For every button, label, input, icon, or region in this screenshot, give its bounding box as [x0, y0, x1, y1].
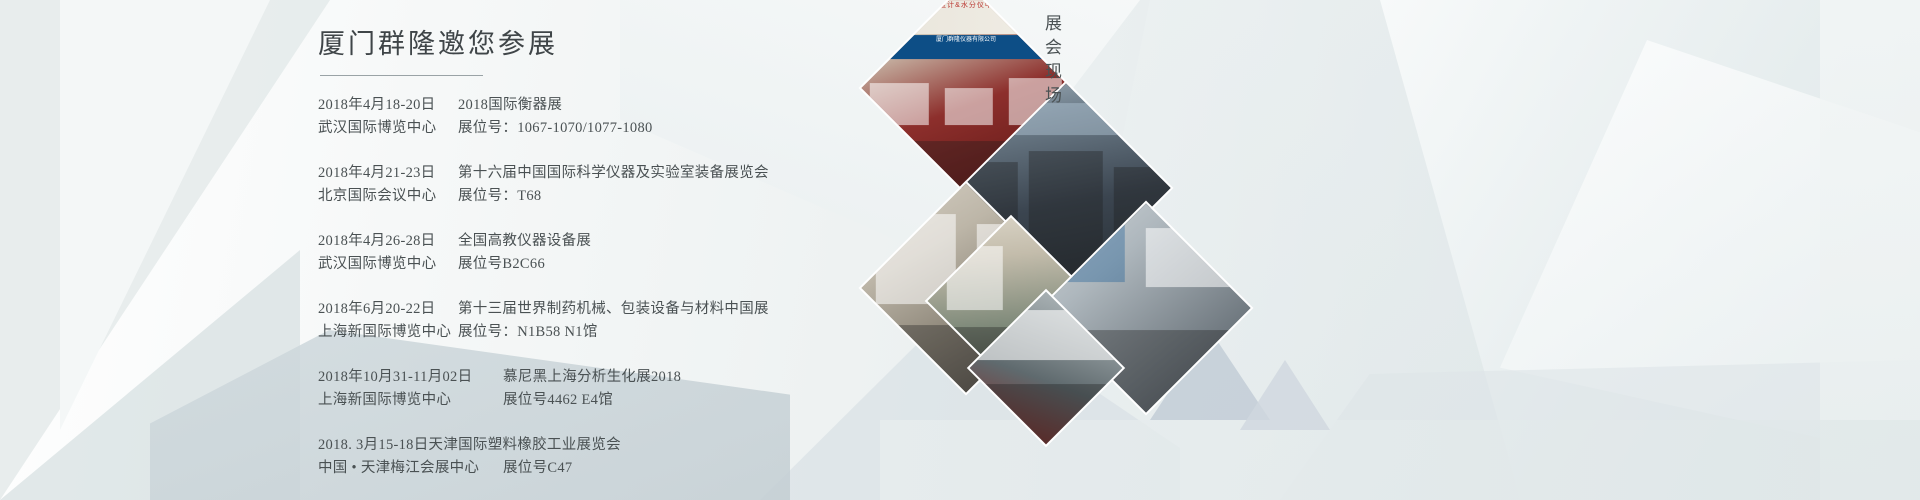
event-venue: 上海新国际博览中心: [318, 321, 458, 344]
booth-banner-main-text: 密度计&水分仪中国: [861, 0, 1070, 11]
event-venue: 北京国际会议中心: [318, 185, 458, 208]
photo-detail: [945, 88, 993, 125]
bg-triangle: [1240, 360, 1330, 430]
event-title: 慕尼黑上海分析生化展2018: [503, 366, 681, 389]
bg-shard: [1820, 0, 1920, 500]
event-date: 2018年4月18-20日: [318, 94, 458, 117]
event-booth: 展位号4462 E4馆: [503, 389, 613, 412]
bg-shard: [0, 0, 330, 500]
event-title: 第十六届中国国际科学仪器及实验室装备展览会: [458, 162, 769, 185]
bg-shard: [1280, 360, 1920, 500]
event-date: 2018. 3月15-18日天津国际塑料橡胶工业展览会: [318, 434, 621, 457]
event-date: 2018年6月20-22日: [318, 298, 458, 321]
event-date: 2018年4月21-23日: [318, 162, 458, 185]
event-venue: 武汉国际博览中心: [318, 253, 458, 276]
event-booth: 展位号B2C66: [458, 253, 545, 276]
exhibition-banner: 厦门群隆邀您参展 2018年4月18-20日 2018国际衡器展 武汉国际博览中…: [0, 0, 1920, 500]
event-title: 2018国际衡器展: [458, 94, 562, 117]
event-venue: 上海新国际博览中心: [318, 389, 503, 412]
event-date: 2018年10月31-11月02日: [318, 366, 503, 389]
event-date: 2018年4月26-28日: [318, 230, 458, 253]
event-booth: 展位号C47: [503, 457, 572, 480]
title-divider: [320, 75, 483, 76]
photo-detail: [1146, 228, 1242, 287]
vertical-caption: 展会现场: [1034, 14, 1064, 110]
photo-detail: [870, 83, 929, 126]
photo-detail: [970, 384, 1123, 445]
bg-shard: [0, 250, 300, 500]
bg-shard: [1380, 0, 1920, 500]
event-title: 第十三届世界制药机械、包装设备与材料中国展: [458, 298, 769, 321]
event-booth: 展位号：N1B58 N1馆: [458, 321, 598, 344]
photo-collage: 密度计&水分仪中国 厦门群隆仪器有限公司: [840, 4, 1220, 500]
bg-shard: [1500, 40, 1920, 460]
bg-shard: [60, 0, 270, 430]
event-booth: 展位号：1067-1070/1077-1080: [458, 117, 653, 140]
event-venue: 中国 • 天津梅江会展中心: [318, 457, 503, 480]
event-booth: 展位号：T68: [458, 185, 541, 208]
event-title: 全国高教仪器设备展: [458, 230, 591, 253]
event-venue: 武汉国际博览中心: [318, 117, 458, 140]
